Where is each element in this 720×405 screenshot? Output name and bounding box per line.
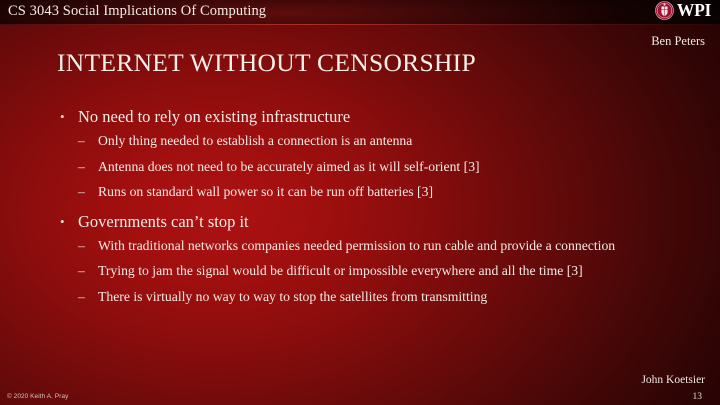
copyright-notice: © 2020 Keith A. Pray [7,393,68,400]
bullet-level2: – There is virtually no way to way to st… [57,287,682,307]
bullet-level2: – Antenna does not need to be accurately… [57,157,682,177]
bullet-level2: – Trying to jam the signal would be diff… [57,261,682,281]
bullet-dash-icon: – [78,261,85,281]
presentation-slide: CS 3043 Social Implications Of Computing… [0,0,720,405]
slide-body: • No need to rely on existing infrastruc… [57,104,682,307]
bullet-dash-icon: – [78,182,85,202]
wpi-logo: WPI [655,1,711,20]
presenter-name: Ben Peters [651,34,705,49]
bullet-dash-icon: – [78,236,85,256]
wpi-wordmark: WPI [677,1,711,20]
bullet-text: Only thing needed to establish a connect… [98,131,682,151]
course-title: CS 3043 Social Implications Of Computing [8,3,266,20]
bullet-level1: • No need to rely on existing infrastruc… [57,104,682,129]
bullet-level1: • Governments can’t stop it [57,209,682,234]
bullet-dash-icon: – [78,131,85,151]
bullet-text: Antenna does not need to be accurately a… [98,157,682,177]
bullet-dot-icon: • [60,104,65,129]
bullet-text: With traditional networks companies need… [98,236,682,256]
slide-header-band: CS 3043 Social Implications Of Computing… [0,0,720,25]
source-credit: John Koetsier [641,374,705,386]
bullet-dash-icon: – [78,157,85,177]
bullet-text: No need to rely on existing infrastructu… [78,107,350,126]
slide-title: INTERNET WITHOUT CENSORSHIP [57,48,476,78]
bullet-dot-icon: • [60,209,65,234]
bullet-text: Trying to jam the signal would be diffic… [98,261,682,281]
bullet-text: Runs on standard wall power so it can be… [98,182,682,202]
bullet-level2: – With traditional networks companies ne… [57,236,682,256]
page-number: 13 [693,392,703,402]
bullet-level2: – Only thing needed to establish a conne… [57,131,682,151]
bullet-text: There is virtually no way to way to stop… [98,287,682,307]
bullet-text: Governments can’t stop it [78,212,249,231]
bullet-level2: – Runs on standard wall power so it can … [57,182,682,202]
wpi-seal-icon [655,1,674,20]
bullet-dash-icon: – [78,287,85,307]
